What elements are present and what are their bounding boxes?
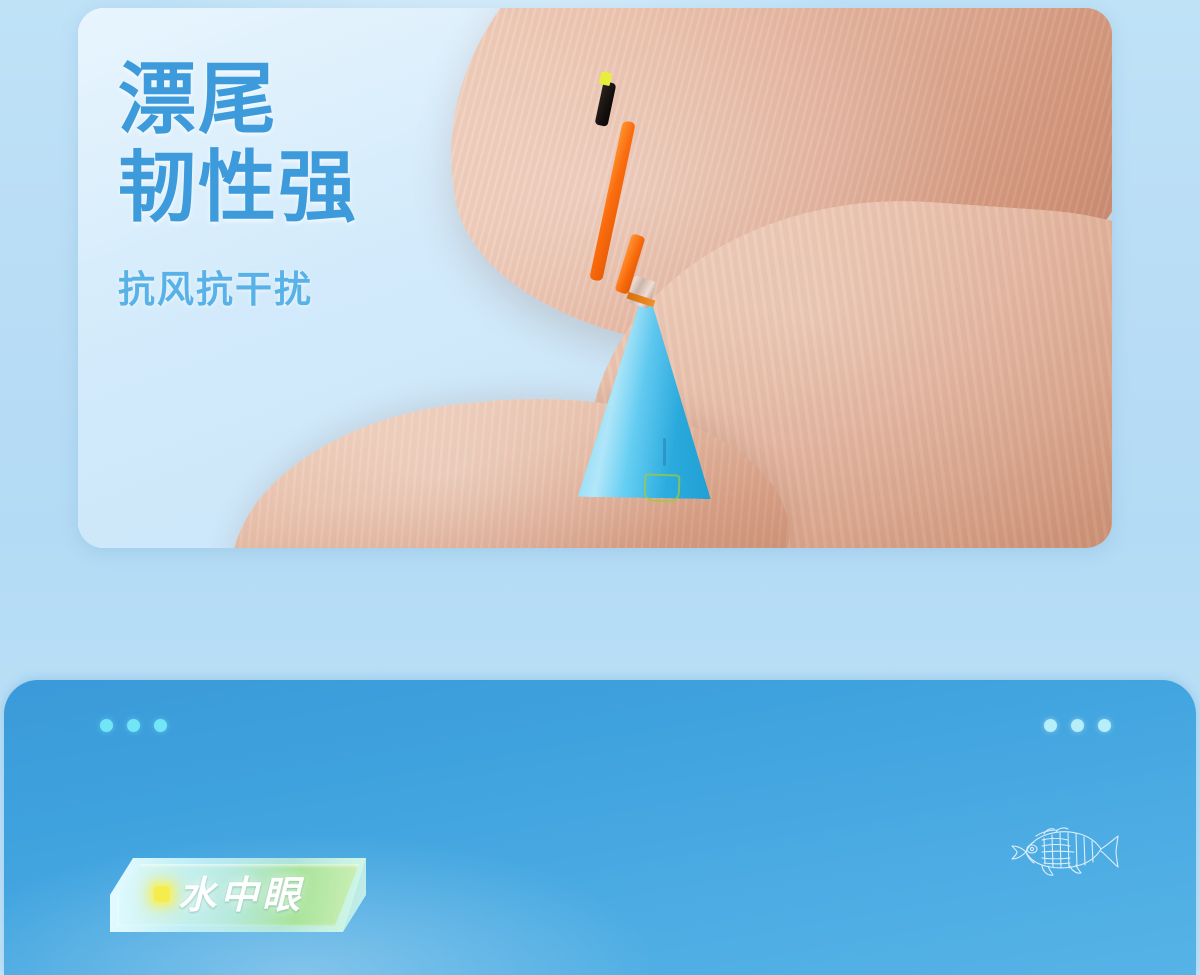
- headline-line-2: 韧性强: [118, 148, 358, 228]
- dot-icon: [1098, 719, 1111, 732]
- dot-icon: [154, 719, 167, 732]
- feature-badge: 水中眼: [110, 858, 366, 932]
- dot-icon: [127, 719, 140, 732]
- dot-icon: [1044, 719, 1057, 732]
- decorative-dots-left: [100, 719, 167, 732]
- fish-icon: [998, 818, 1124, 882]
- dot-icon: [1071, 719, 1084, 732]
- badge-accent-dot-icon: [154, 886, 170, 902]
- page-root: 漂尾 韧性强 抗风抗干扰 水中眼: [0, 0, 1200, 975]
- dot-icon: [100, 719, 113, 732]
- hero-subtitle: 抗风抗干扰: [118, 259, 358, 313]
- hero-photo-card: 漂尾 韧性强 抗风抗干扰: [78, 8, 1112, 548]
- headline-line-1: 漂尾: [118, 60, 358, 140]
- badge-label: 水中眼: [178, 872, 304, 918]
- decorative-dots-right: [1044, 719, 1111, 732]
- hero-text-block: 漂尾 韧性强 抗风抗干扰: [118, 60, 358, 313]
